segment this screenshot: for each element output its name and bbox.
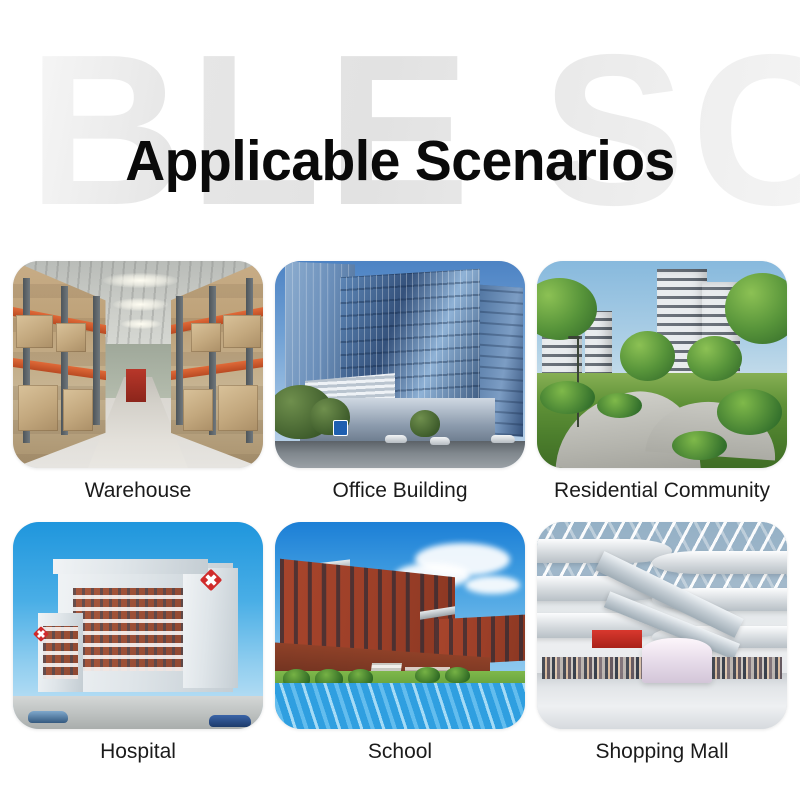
scenario-card-office-building[interactable]: Office Building xyxy=(275,261,525,514)
scenario-label-school: School xyxy=(275,729,525,775)
residential-community-photo[interactable] xyxy=(537,261,787,468)
scenario-card-hospital[interactable]: Hospital xyxy=(13,522,263,775)
scenario-card-shopping-mall[interactable]: Shopping Mall xyxy=(537,522,787,775)
scenario-label-office-building: Office Building xyxy=(275,468,525,514)
scenario-label-residential-community: Residential Community xyxy=(537,468,787,514)
warehouse-illustration xyxy=(13,261,263,468)
scenario-label-warehouse: Warehouse xyxy=(13,468,263,514)
hospital-illustration xyxy=(13,522,263,729)
residential-community-illustration xyxy=(537,261,787,468)
office-building-illustration xyxy=(275,261,525,468)
scenario-card-school[interactable]: School xyxy=(275,522,525,775)
scenario-card-residential-community[interactable]: Residential Community xyxy=(537,261,787,514)
page-header: BLE SC Applicable Scenarios xyxy=(0,0,800,250)
scenario-grid: Warehouse Office Building xyxy=(13,261,787,775)
page-title: Applicable Scenarios xyxy=(12,130,788,192)
office-building-photo[interactable] xyxy=(275,261,525,468)
shopping-mall-photo[interactable] xyxy=(537,522,787,729)
scenario-card-warehouse[interactable]: Warehouse xyxy=(13,261,263,514)
scenario-label-shopping-mall: Shopping Mall xyxy=(537,729,787,775)
scenario-label-hospital: Hospital xyxy=(13,729,263,775)
warehouse-photo[interactable] xyxy=(13,261,263,468)
hospital-photo[interactable] xyxy=(13,522,263,729)
shopping-mall-illustration xyxy=(537,522,787,729)
school-photo[interactable] xyxy=(275,522,525,729)
school-illustration xyxy=(275,522,525,729)
